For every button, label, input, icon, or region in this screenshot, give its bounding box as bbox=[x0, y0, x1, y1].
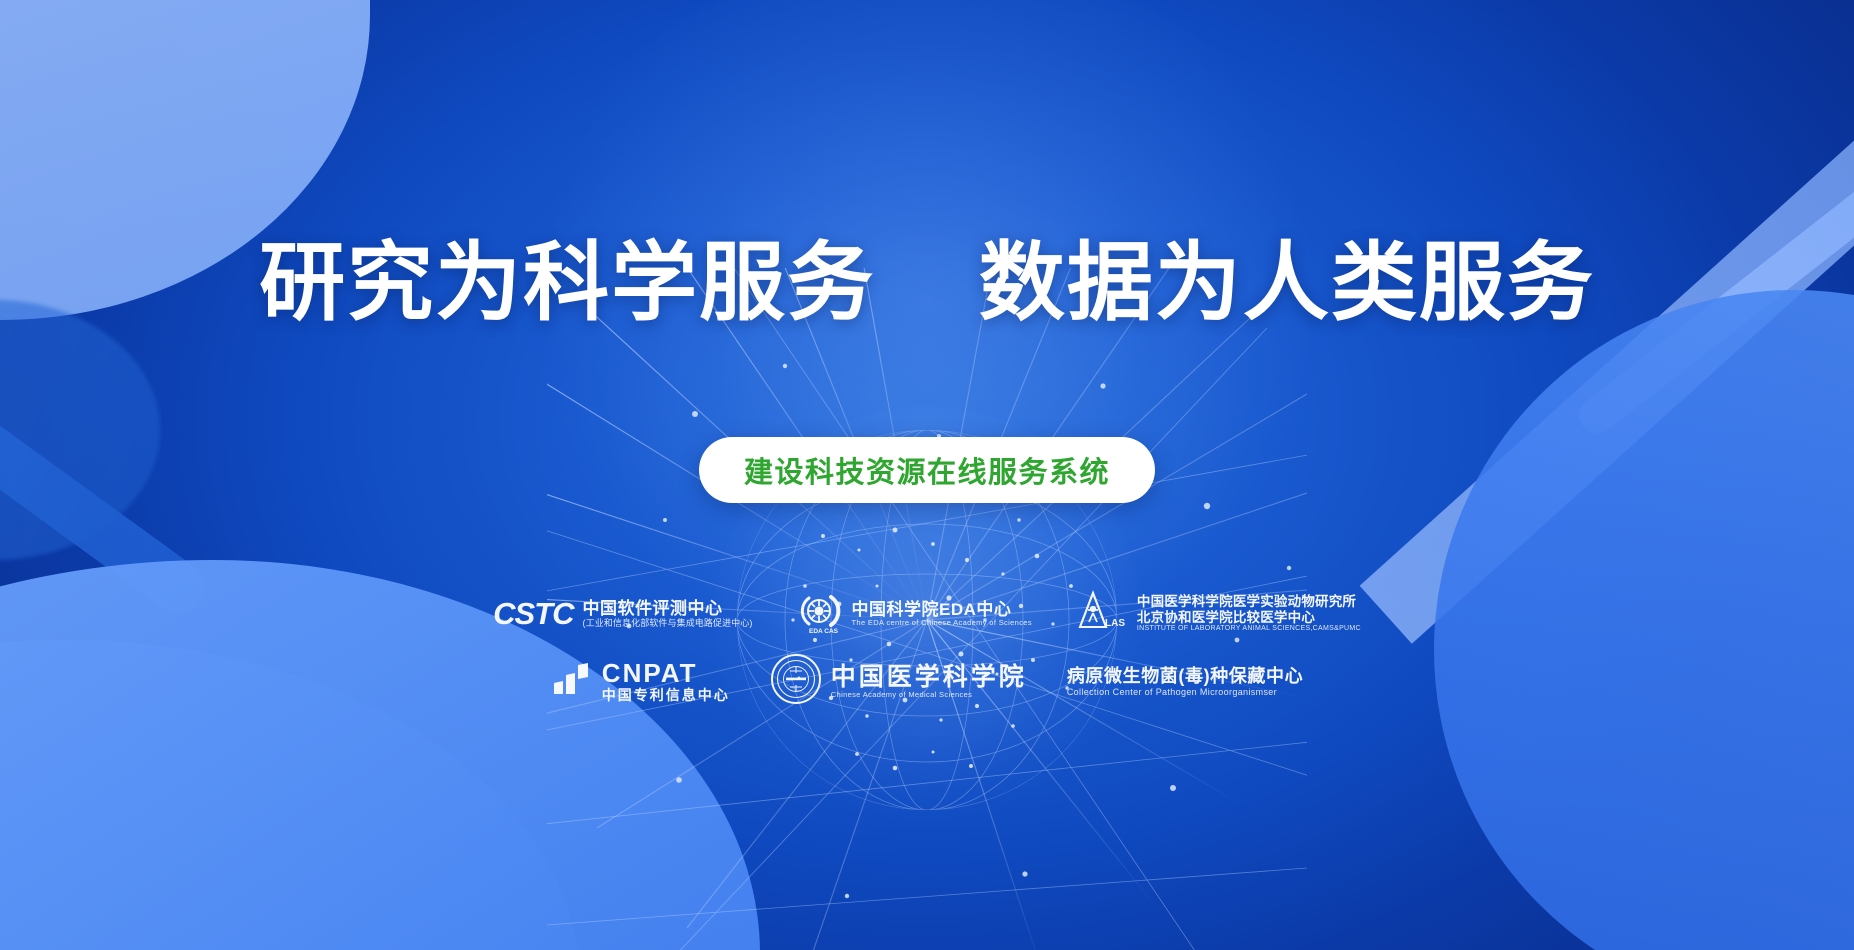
cams-name-cn: 中国医学科学院 bbox=[831, 663, 1027, 691]
ilas-logo-icon: LAS bbox=[1076, 589, 1128, 638]
eda-cas-name-cn: 中国科学院EDA中心 bbox=[852, 600, 1032, 619]
cstc-name-cn: 中国软件评测中心 bbox=[583, 599, 753, 618]
svg-text:EDA CAS: EDA CAS bbox=[809, 628, 839, 634]
cstc-name-cn-sub: (工业和信息化部软件与集成电路促进中心) bbox=[583, 618, 753, 628]
hero-content: 研究为科学服务 数据为人类服务 建设科技资源在线服务系统 CSTC 中国软件评测… bbox=[0, 0, 1854, 950]
partner-logo-row-2: CNPAT 中国专利信息中心 bbox=[0, 653, 1854, 710]
cta-button-label: 建设科技资源在线服务系统 bbox=[744, 449, 1110, 491]
partner-cstc[interactable]: CSTC 中国软件评测中心 (工业和信息化部软件与集成电路促进中心) bbox=[493, 596, 752, 632]
page-title: 研究为科学服务 数据为人类服务 bbox=[0, 236, 1854, 331]
eda-cas-logo-icon: EDA CAS bbox=[797, 588, 843, 639]
headline-right: 数据为人类服务 bbox=[979, 236, 1595, 331]
svg-text:LAS: LAS bbox=[1105, 618, 1125, 629]
hero-banner: 研究为科学服务 数据为人类服务 建设科技资源在线服务系统 CSTC 中国软件评测… bbox=[0, 0, 1854, 950]
partner-cnpat[interactable]: CNPAT 中国专利信息中心 bbox=[551, 659, 730, 704]
cta-button[interactable]: 建设科技资源在线服务系统 bbox=[699, 437, 1155, 503]
pathogen-name-cn: 病原微生物菌(毒)种保藏中心 bbox=[1067, 666, 1303, 686]
partner-eda-cas[interactable]: EDA CAS 中国科学院EDA中心 The EDA centre of Chi… bbox=[797, 588, 1032, 639]
headline-left: 研究为科学服务 bbox=[259, 236, 875, 331]
cstc-wordmark: CSTC bbox=[493, 596, 573, 632]
partner-logos: CSTC 中国软件评测中心 (工业和信息化部软件与集成电路促进中心) bbox=[0, 588, 1854, 710]
partner-pathogen-center[interactable]: 病原微生物菌(毒)种保藏中心 Collection Center of Path… bbox=[1067, 666, 1303, 696]
eda-cas-name-en: The EDA centre of Chinese Academy of Sci… bbox=[852, 619, 1032, 627]
partner-logo-row-1: CSTC 中国软件评测中心 (工业和信息化部软件与集成电路促进中心) bbox=[0, 588, 1854, 639]
cams-name-en: Chinese Academy of Medical Sciences bbox=[831, 691, 1027, 699]
partner-cams[interactable]: 中国医学科学院 Chinese Academy of Medical Scien… bbox=[770, 653, 1027, 710]
ilas-name-cn-line2: 北京协和医学院比较医学中心 bbox=[1137, 610, 1361, 625]
cnpat-name-cn: 中国专利信息中心 bbox=[602, 688, 730, 704]
pathogen-name-en: Collection Center of Pathogen Microorgan… bbox=[1067, 687, 1303, 697]
ilas-name-cn-line1: 中国医学科学院医学实验动物研究所 bbox=[1137, 594, 1361, 609]
cnpat-logo-icon bbox=[551, 661, 593, 702]
cnpat-wordmark: CNPAT bbox=[602, 659, 730, 688]
ilas-name-en: INSTITUTE OF LABORATORY ANIMAL SCIENCES,… bbox=[1137, 625, 1361, 633]
partner-ilas[interactable]: LAS 中国医学科学院医学实验动物研究所 北京协和医学院比较医学中心 INSTI… bbox=[1076, 589, 1361, 638]
cams-seal-icon bbox=[770, 653, 822, 710]
